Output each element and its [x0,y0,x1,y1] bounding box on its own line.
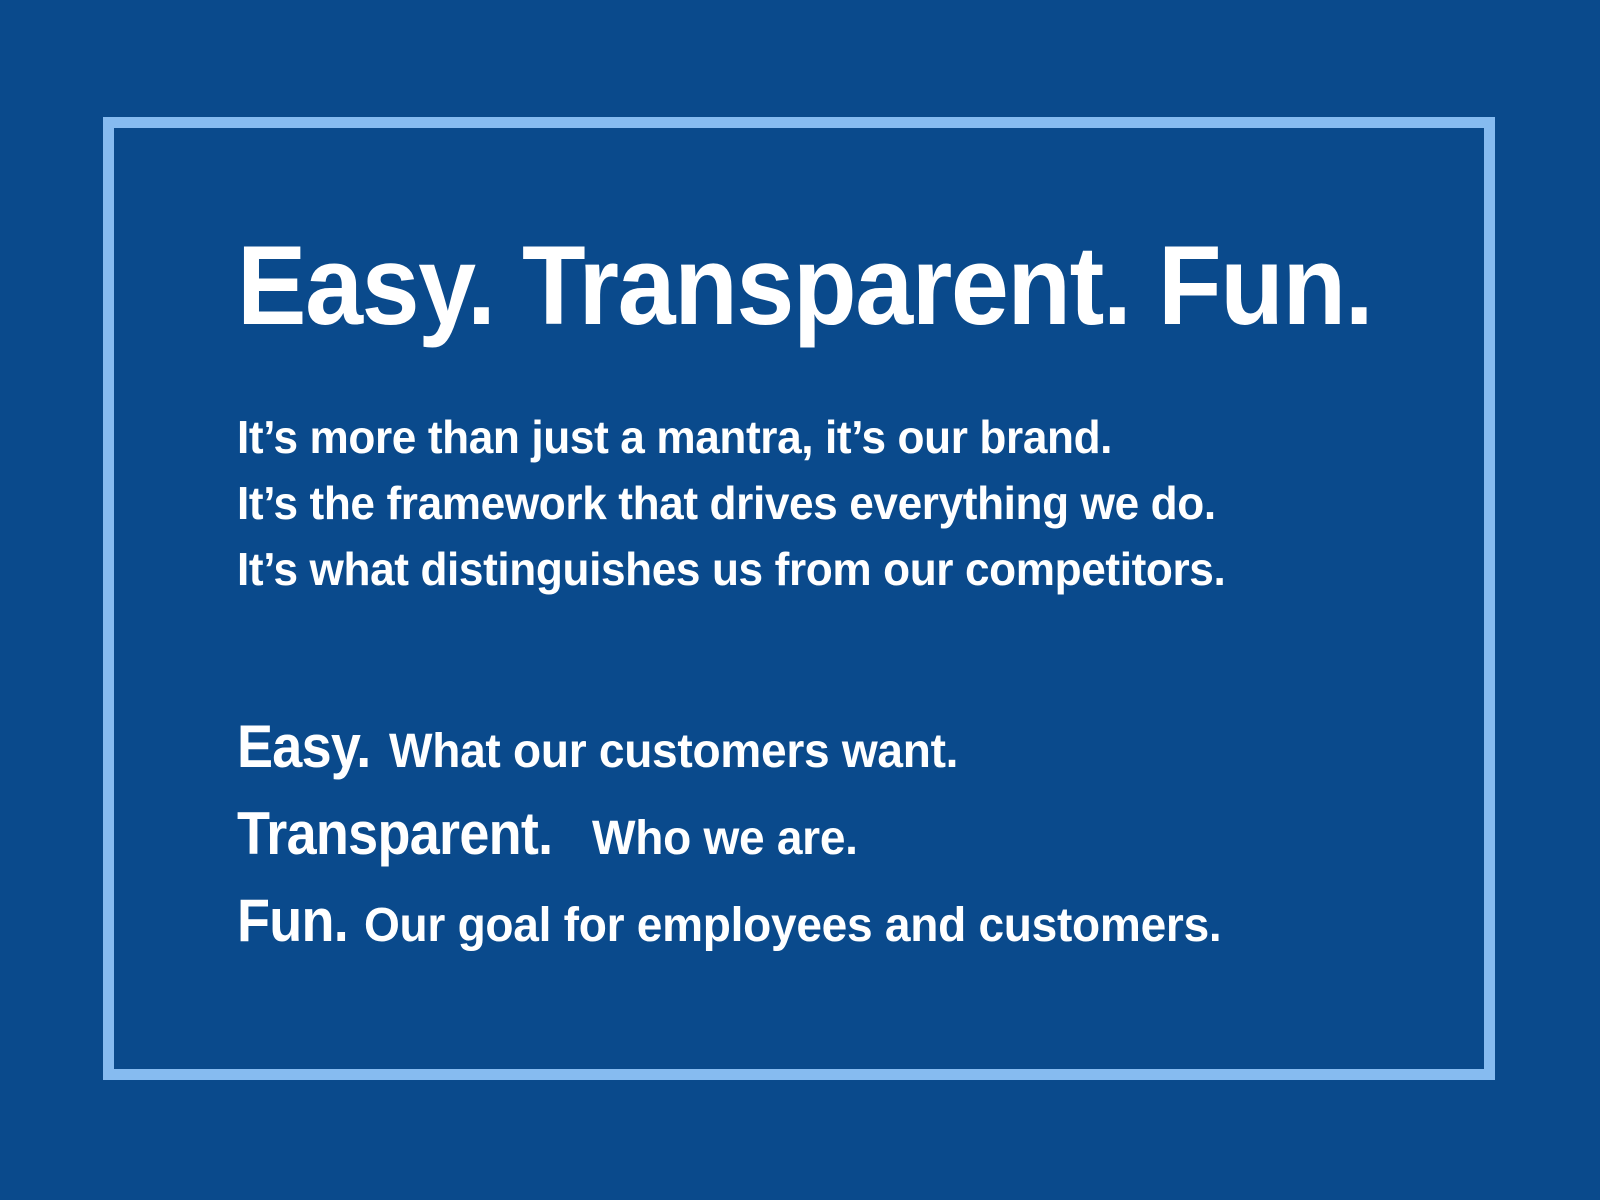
slide-content: Easy. Transparent. Fun. It’s more than j… [237,230,1357,967]
intro-line: It’s more than just a mantra, it’s our b… [237,404,1312,470]
intro-paragraph: It’s more than just a mantra, it’s our b… [237,404,1357,602]
definition-term: Transparent. [237,793,552,875]
intro-line: It’s the framework that drives everythin… [237,470,1312,536]
definition-term: Fun. [237,880,348,962]
definition-row: Transparent. Who we are. [237,793,1357,880]
definition-description: Who we are. [592,798,858,880]
definition-row: Easy. What our customers want. [237,706,1357,793]
definition-row: Fun. Our goal for employees and customer… [237,880,1357,967]
definition-description: What our customers want. [389,711,958,793]
intro-line: It’s what distinguishes us from our comp… [237,536,1312,602]
slide-canvas: Easy. Transparent. Fun. It’s more than j… [0,0,1600,1200]
definition-term: Easy. [237,706,371,788]
page-title: Easy. Transparent. Fun. [237,230,1279,342]
definition-list: Easy. What our customers want. Transpare… [237,706,1357,967]
definition-description: Our goal for employees and customers. [364,885,1221,967]
